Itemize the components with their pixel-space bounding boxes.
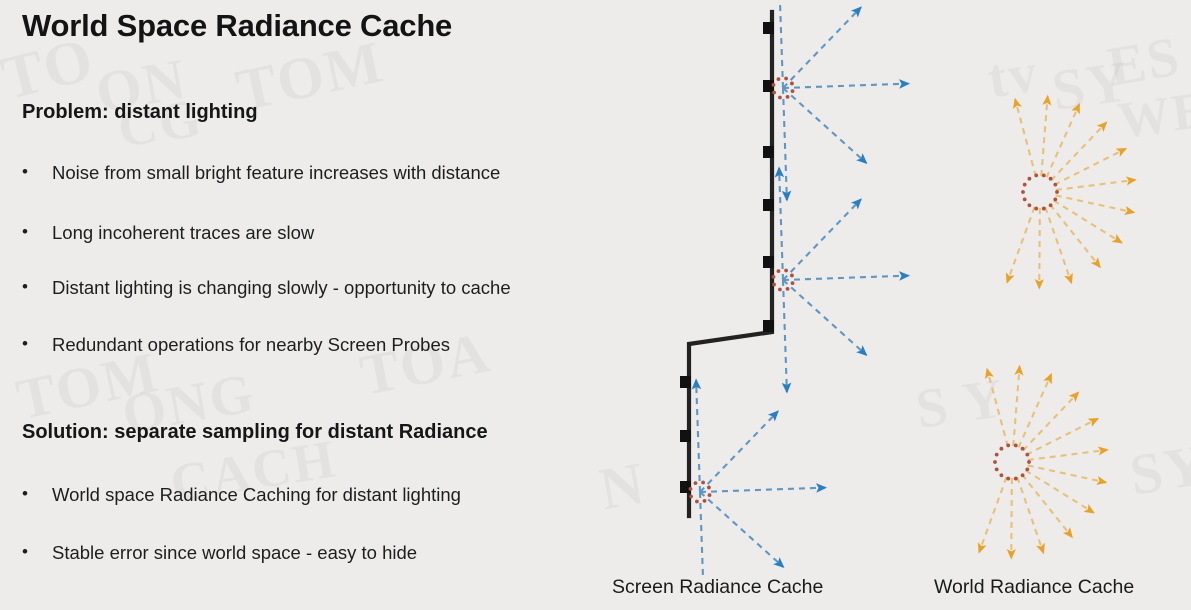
radiance-cache-diagram bbox=[600, 0, 1191, 575]
world-ray bbox=[987, 369, 1008, 446]
watermark-text: TOA bbox=[355, 318, 496, 409]
probe-dot bbox=[1025, 467, 1029, 471]
caption-world-radiance-cache: World Radiance Cache bbox=[934, 576, 1134, 599]
bullet-text: World space Radiance Caching for distant… bbox=[52, 484, 461, 506]
probe-dot bbox=[1034, 174, 1038, 178]
world-ray bbox=[1054, 149, 1125, 185]
probe-dot bbox=[1014, 444, 1018, 448]
screen-ray bbox=[700, 411, 778, 492]
world-ray bbox=[1019, 374, 1052, 447]
caption-screen-radiance-cache: Screen Radiance Cache bbox=[612, 576, 823, 599]
world-ray bbox=[1028, 450, 1107, 460]
slide-canvas: TOONCGTOMtvSYESWESTOMONGTOACACHS YSYN Wo… bbox=[0, 0, 1191, 610]
screen-ray bbox=[783, 7, 861, 88]
screen-ray bbox=[700, 492, 704, 575]
probe-dot bbox=[772, 83, 776, 87]
probe-dot bbox=[772, 283, 776, 287]
probe-dot bbox=[1000, 447, 1004, 451]
probe-dot bbox=[701, 481, 705, 485]
probe-dot bbox=[778, 96, 782, 100]
world-ray bbox=[979, 477, 1006, 552]
bullet-text: Distant lighting is changing slowly - op… bbox=[52, 277, 511, 299]
probe-dot bbox=[1042, 207, 1046, 211]
probe-dot bbox=[707, 486, 711, 490]
bullet-marker-icon: • bbox=[22, 484, 52, 504]
bullet-text: Long incoherent traces are slow bbox=[52, 222, 314, 244]
probe-dot bbox=[689, 495, 693, 499]
bullet-marker-icon: • bbox=[22, 277, 52, 297]
probe-dot bbox=[1023, 197, 1027, 201]
probe-dot bbox=[695, 500, 699, 504]
wall-probe-markers bbox=[680, 22, 774, 493]
bullet-text: Noise from small bright feature increase… bbox=[52, 162, 500, 184]
probe-dot bbox=[786, 95, 790, 99]
probe-dot bbox=[791, 281, 795, 285]
screen-ray bbox=[783, 280, 787, 392]
probe-dot bbox=[703, 499, 707, 503]
world-radiance-fans bbox=[979, 96, 1135, 558]
probe-dot bbox=[1023, 183, 1027, 187]
screen-ray bbox=[783, 88, 787, 200]
probe-dot bbox=[790, 82, 794, 86]
probe-dot bbox=[1021, 447, 1025, 451]
section-heading-solution: Solution: separate sampling for distant … bbox=[22, 421, 488, 444]
probe-dot bbox=[1000, 473, 1004, 477]
probe-marker bbox=[680, 430, 691, 442]
screen-ray bbox=[783, 199, 861, 280]
probe-dot bbox=[784, 269, 788, 273]
probe-marker bbox=[763, 320, 774, 332]
world-ray bbox=[1041, 96, 1047, 176]
probe-dot bbox=[1006, 444, 1010, 448]
world-ray bbox=[1007, 207, 1034, 282]
probe-dot bbox=[786, 287, 790, 291]
probe-marker bbox=[763, 256, 774, 268]
screen-ray bbox=[783, 84, 908, 88]
world-ray bbox=[1013, 366, 1019, 446]
probe-dot bbox=[1006, 477, 1010, 481]
probe-marker bbox=[680, 376, 691, 388]
screen-radiance-fans bbox=[689, 0, 909, 575]
probe-dot bbox=[1042, 174, 1046, 178]
world-ray bbox=[1039, 208, 1040, 288]
probe-dot bbox=[1049, 177, 1053, 181]
world-ray bbox=[1056, 180, 1135, 190]
probe-dot bbox=[694, 481, 698, 485]
world-ray bbox=[1026, 419, 1097, 455]
wall-geometry bbox=[689, 12, 772, 516]
probe-dot bbox=[1049, 203, 1053, 207]
bullet-marker-icon: • bbox=[22, 542, 52, 562]
page-title: World Space Radiance Cache bbox=[22, 8, 452, 44]
probe-dot bbox=[790, 274, 794, 278]
probe-dot bbox=[995, 467, 999, 471]
probe-dot bbox=[1053, 197, 1057, 201]
bullet-item: •Stable error since world space - easy t… bbox=[22, 542, 417, 564]
bullet-item: •Long incoherent traces are slow bbox=[22, 222, 314, 244]
screen-ray bbox=[700, 492, 783, 567]
world-ray bbox=[1011, 478, 1012, 558]
world-ray bbox=[1047, 104, 1080, 177]
probe-dot bbox=[772, 91, 776, 95]
probe-dot bbox=[1021, 473, 1025, 477]
probe-marker bbox=[763, 146, 774, 158]
probe-dot bbox=[993, 460, 997, 464]
probe-dot bbox=[777, 77, 781, 81]
probe-dot bbox=[1055, 190, 1059, 194]
screen-ray bbox=[783, 276, 908, 280]
probe-marker bbox=[680, 481, 691, 493]
bullet-item: •Noise from small bright feature increas… bbox=[22, 162, 500, 184]
probe-dot bbox=[1027, 460, 1031, 464]
screen-ray bbox=[696, 380, 700, 492]
screen-ray bbox=[779, 0, 783, 88]
screen-ray bbox=[783, 88, 866, 163]
probe-dot bbox=[1028, 177, 1032, 181]
probe-dot bbox=[708, 493, 712, 497]
probe-dot bbox=[784, 77, 788, 81]
probe-dot bbox=[1021, 190, 1025, 194]
bullet-marker-icon: • bbox=[22, 334, 52, 354]
probe-dot bbox=[778, 288, 782, 292]
bullet-item: •World space Radiance Caching for distan… bbox=[22, 484, 461, 506]
probe-dot bbox=[995, 453, 999, 457]
screen-ray bbox=[700, 488, 825, 492]
probe-dot bbox=[1028, 203, 1032, 207]
probe-marker bbox=[763, 22, 774, 34]
bullet-text: Stable error since world space - easy to… bbox=[52, 542, 417, 564]
probe-dot bbox=[772, 275, 776, 279]
world-ray bbox=[1015, 99, 1036, 176]
probe-dot bbox=[791, 89, 795, 93]
screen-ray bbox=[783, 280, 866, 355]
probe-dot bbox=[1025, 453, 1029, 457]
screen-ray bbox=[779, 168, 783, 280]
section-heading-problem: Problem: distant lighting bbox=[22, 101, 258, 124]
probe-dot bbox=[1034, 207, 1038, 211]
probe-dot bbox=[1014, 477, 1018, 481]
bullet-marker-icon: • bbox=[22, 162, 52, 182]
probe-marker bbox=[763, 199, 774, 211]
bullet-text: Redundant operations for nearby Screen P… bbox=[52, 334, 450, 356]
bullet-marker-icon: • bbox=[22, 222, 52, 242]
probe-dot bbox=[777, 269, 781, 273]
probe-dot bbox=[689, 487, 693, 491]
bullet-item: •Redundant operations for nearby Screen … bbox=[22, 334, 450, 356]
probe-dot bbox=[1053, 183, 1057, 187]
world-ray bbox=[1017, 477, 1043, 553]
bullet-item: •Distant lighting is changing slowly - o… bbox=[22, 277, 511, 299]
world-ray bbox=[1045, 207, 1071, 283]
